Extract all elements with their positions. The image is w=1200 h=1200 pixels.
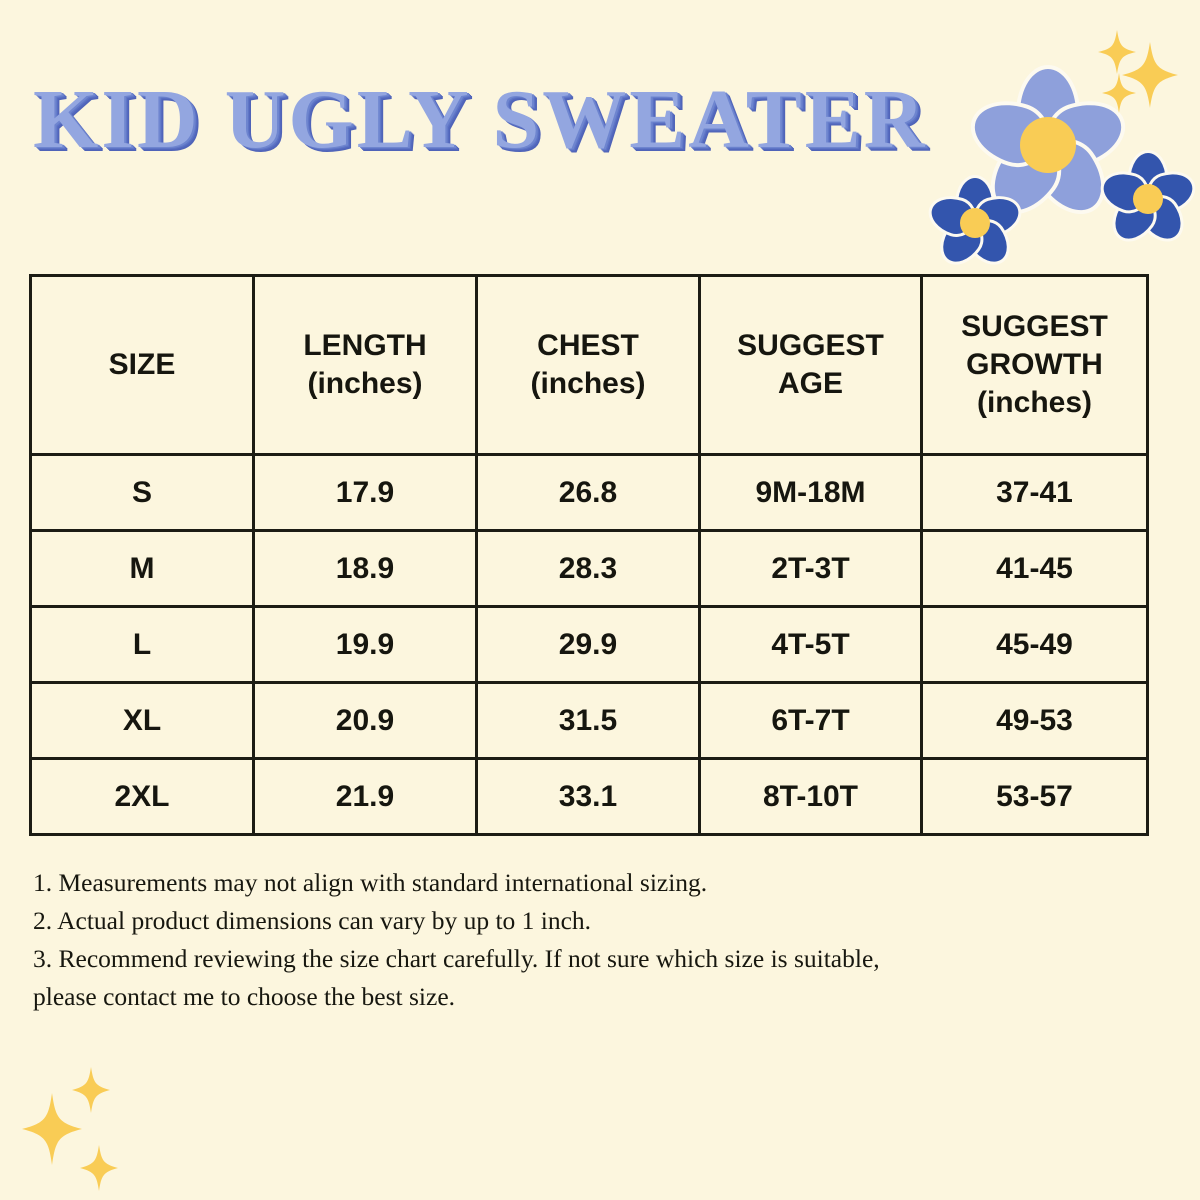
- cell-age: 8T-10T: [700, 759, 922, 835]
- cell-length: 17.9: [254, 455, 477, 531]
- note-line: 2. Actual product dimensions can vary by…: [33, 902, 1123, 940]
- flower-large-icon: [978, 75, 1118, 215]
- cell-size: XL: [31, 683, 254, 759]
- table-row: L 19.9 29.9 4T-5T 45-49: [31, 607, 1148, 683]
- petal: [1038, 90, 1134, 176]
- petal: [1022, 126, 1121, 228]
- cell-growth: 49-53: [922, 683, 1148, 759]
- header-line: SUGGEST: [961, 310, 1108, 343]
- sparkle-bottom-large-icon: [22, 1093, 82, 1165]
- cell-chest: 26.8: [477, 455, 700, 531]
- cell-chest: 33.1: [477, 759, 700, 835]
- header-line: (inches): [977, 386, 1092, 419]
- table-header-row: SIZE LENGTH (inches) CHEST (inches) SUGG…: [31, 276, 1148, 455]
- header-line: AGE: [778, 367, 843, 400]
- flower-center: [1133, 184, 1163, 214]
- cell-length: 19.9: [254, 607, 477, 683]
- petal: [1128, 150, 1169, 199]
- petal: [1103, 187, 1165, 251]
- header-line: SUGGEST: [737, 329, 884, 362]
- cell-age: 2T-3T: [700, 531, 922, 607]
- petal: [969, 189, 1027, 242]
- petal: [955, 175, 995, 223]
- decoration-bottom-left: [10, 1065, 210, 1200]
- cell-growth: 37-41: [922, 455, 1148, 531]
- column-header-suggest-age: SUGGEST AGE: [700, 276, 922, 455]
- cell-length: 20.9: [254, 683, 477, 759]
- petal: [931, 211, 992, 273]
- petal: [923, 189, 981, 242]
- table-row: XL 20.9 31.5 6T-7T 49-53: [31, 683, 1148, 759]
- note-line: 1. Measurements may not align with stand…: [33, 864, 1123, 902]
- table-row: 2XL 21.9 33.1 8T-10T 53-57: [31, 759, 1148, 835]
- table-row: S 17.9 26.8 9M-18M 37-41: [31, 455, 1148, 531]
- cell-age: 6T-7T: [700, 683, 922, 759]
- cell-size: S: [31, 455, 254, 531]
- petal: [1131, 187, 1193, 251]
- petal: [1016, 65, 1080, 145]
- sparkle-bottom-small-upper-icon: [72, 1067, 110, 1113]
- flower-center: [1020, 117, 1076, 173]
- header-line: (inches): [307, 367, 422, 400]
- flower-small-right-icon: [1102, 153, 1194, 245]
- cell-size: L: [31, 607, 254, 683]
- cell-size: M: [31, 531, 254, 607]
- header-line: (inches): [530, 367, 645, 400]
- column-header-length: LENGTH (inches): [254, 276, 477, 455]
- header-line: SIZE: [109, 348, 176, 381]
- petal: [1142, 164, 1200, 218]
- sparkle-top-large-icon: [1122, 42, 1178, 108]
- header-line: CHEST: [537, 329, 639, 362]
- note-line: please contact me to choose the best siz…: [33, 978, 1123, 1016]
- cell-chest: 31.5: [477, 683, 700, 759]
- header-line: LENGTH: [303, 329, 426, 362]
- column-header-chest: CHEST (inches): [477, 276, 700, 455]
- cell-age: 9M-18M: [700, 455, 922, 531]
- size-chart-table: SIZE LENGTH (inches) CHEST (inches) SUGG…: [29, 274, 1149, 836]
- flower-small-left-icon: [930, 178, 1020, 268]
- cell-length: 18.9: [254, 531, 477, 607]
- cell-growth: 53-57: [922, 759, 1148, 835]
- header-line: GROWTH: [966, 348, 1103, 381]
- notes-block: 1. Measurements may not align with stand…: [33, 864, 1123, 1016]
- cell-chest: 29.9: [477, 607, 700, 683]
- cell-growth: 45-49: [922, 607, 1148, 683]
- cell-age: 4T-5T: [700, 607, 922, 683]
- cell-growth: 41-45: [922, 531, 1148, 607]
- column-header-size: SIZE: [31, 276, 254, 455]
- column-header-suggest-growth: SUGGEST GROWTH (inches): [922, 276, 1148, 455]
- petal: [1095, 164, 1154, 218]
- flower-center: [960, 208, 990, 238]
- sparkle-top-small-upper-icon: [1098, 30, 1136, 74]
- cell-size: 2XL: [31, 759, 254, 835]
- sparkle-top-small-lower-icon: [1102, 73, 1136, 113]
- cell-length: 21.9: [254, 759, 477, 835]
- table-row: M 18.9 28.3 2T-3T 41-45: [31, 531, 1148, 607]
- sparkle-bottom-small-lower-icon: [80, 1145, 118, 1191]
- title-row: KID UGLY SWEATER: [33, 72, 993, 172]
- cell-chest: 28.3: [477, 531, 700, 607]
- petal: [959, 211, 1020, 273]
- note-line: 3. Recommend reviewing the size chart ca…: [33, 940, 1123, 978]
- page-title: KID UGLY SWEATER: [33, 72, 993, 168]
